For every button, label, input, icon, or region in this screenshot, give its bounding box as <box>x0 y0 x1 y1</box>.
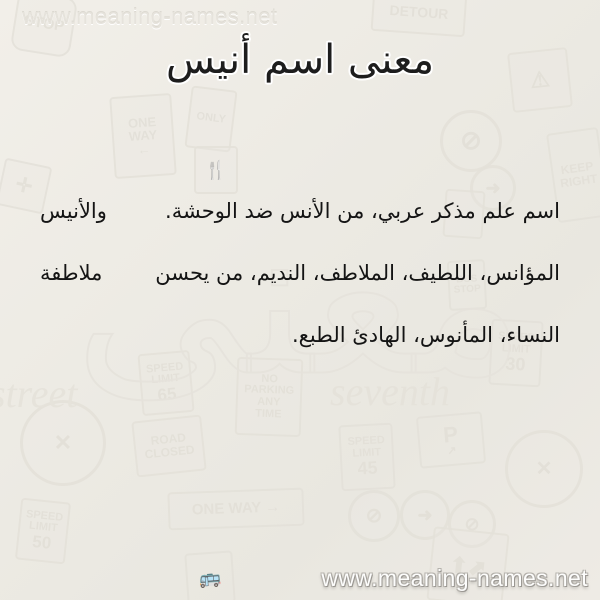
sign-one-way-horizontal-icon: ONE WAY → <box>167 488 304 531</box>
meaning-line-segment: المؤانس، اللطيف، الملاطف، النديم، من يحس… <box>155 258 560 320</box>
sign-speed-limit-50-icon: SPEEDLIMIT50 <box>15 498 71 565</box>
meaning-line-segment: والأنيس <box>40 196 107 258</box>
sign-detour-icon: DETOUR <box>371 0 468 37</box>
sign-arrow-circle-icon: ➜ <box>400 490 450 540</box>
sign-road-closed-icon: ROADCLOSED <box>131 414 206 477</box>
sign-one-way-icon: ONEWAY← <box>109 93 177 179</box>
sign-no-bike-icon: ⊘ <box>448 500 496 548</box>
meaning-line: المؤانس، اللطيف، الملاطف، النديم، من يحس… <box>40 258 560 320</box>
sign-speed-limit-45-icon: SPEEDLIMIT45 <box>338 423 395 492</box>
watermark-top: www.meaning-names.net <box>22 4 277 30</box>
sign-only-icon: ONLY <box>184 85 237 152</box>
meaning-line-segment: ملاطفة <box>40 258 102 320</box>
sign-no-entry-icon: ⊘ <box>440 110 502 172</box>
sign-railroad-crossing-icon: ✕ <box>20 400 106 486</box>
name-meaning-card: ONEWAY← STOP DETOUR ONLY KEEPRIGHT BUSST… <box>0 0 600 600</box>
sign-restaurant-icon: 🍴 <box>194 146 238 194</box>
meaning-line: النساء، المأنوس، الهادئ الطبع. <box>40 320 560 382</box>
meaning-line-segment: النساء، المأنوس، الهادئ الطبع. <box>292 320 560 382</box>
watermark-bottom: www.meaning-names.net <box>321 565 588 592</box>
meaning-line-segment: اسم علم مذكر عربي، من الأنس ضد الوحشة. <box>165 196 560 258</box>
sign-transit-icon: 🚌 <box>184 550 236 600</box>
sign-parking-icon: P ↗ <box>416 411 486 469</box>
page-title: معنى اسم أنيس <box>0 37 600 83</box>
meaning-line: اسم علم مذكر عربي، من الأنس ضد الوحشة. و… <box>40 196 560 258</box>
sign-no-turn-icon: ⊘ <box>348 490 400 542</box>
sign-railroad-crossing-right-icon: ✕ <box>505 430 583 508</box>
meaning-text-block: اسم علم مذكر عربي، من الأنس ضد الوحشة. و… <box>40 196 560 382</box>
